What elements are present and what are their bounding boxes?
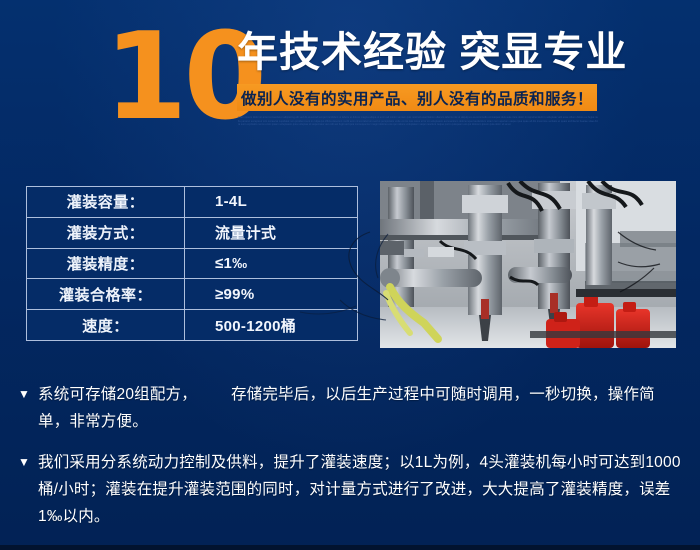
table-row: 灌装容量： 1-4L	[27, 187, 357, 218]
spec-value: ≥99%	[185, 279, 357, 309]
machine-photo	[380, 181, 676, 348]
bullet-1-part1: 系统可存储20组配方，	[38, 386, 197, 403]
table-row: 速度： 500-1200桶	[27, 310, 357, 340]
subtitle-banner: 做别人没有的实用产品、别人没有的品质和服务！	[237, 84, 597, 111]
header-section: 10 年技术经验 突显专业 做别人没有的实用产品、别人没有的品质和服务！ lor…	[0, 0, 700, 150]
table-row: 灌装方式： 流量计式	[27, 218, 357, 249]
spec-value: 1-4L	[185, 187, 357, 217]
spec-label: 灌装容量：	[27, 187, 185, 217]
bullet-text-1: 系统可存储20组配方，存储完毕后，以后生产过程中可随时调用，一秒切换，操作简单，…	[38, 381, 682, 435]
bullet-list: ▼ 系统可存储20组配方，存储完毕后，以后生产过程中可随时调用，一秒切换，操作简…	[18, 381, 682, 544]
spec-value: ≤1‰	[185, 249, 357, 279]
spec-value: 500-1200桶	[185, 310, 357, 340]
decorative-filler-text: lorem ipsum dolor sit amet consectetur a…	[238, 116, 598, 138]
spec-label: 灌装合格率：	[27, 279, 185, 309]
spec-label: 灌装精度：	[27, 249, 185, 279]
spec-label: 灌装方式：	[27, 218, 185, 248]
spec-table: 灌装容量： 1-4L 灌装方式： 流量计式 灌装精度： ≤1‰ 灌装合格率： ≥…	[26, 186, 358, 341]
list-item: ▼ 系统可存储20组配方，存储完毕后，以后生产过程中可随时调用，一秒切换，操作简…	[18, 381, 682, 435]
triangle-bullet-icon: ▼	[18, 381, 38, 407]
spec-label: 速度：	[27, 310, 185, 340]
bullet-text-2: 我们采用分系统动力控制及供料，提升了灌装速度；以1L为例，4头灌装机每小时可达到…	[38, 449, 682, 530]
list-item: ▼ 我们采用分系统动力控制及供料，提升了灌装速度；以1L为例，4头灌装机每小时可…	[18, 449, 682, 530]
banner-page: 10 年技术经验 突显专业 做别人没有的实用产品、别人没有的品质和服务！ lor…	[0, 0, 700, 550]
headline-title: 年技术经验 突显专业	[237, 29, 627, 76]
table-row: 灌装精度： ≤1‰	[27, 249, 357, 280]
table-row: 灌装合格率： ≥99%	[27, 279, 357, 310]
bottom-strip	[0, 545, 700, 550]
subtitle-text: 做别人没有的实用产品、别人没有的品质和服务！	[241, 87, 593, 109]
triangle-bullet-icon: ▼	[18, 449, 38, 475]
spec-value: 流量计式	[185, 218, 357, 248]
